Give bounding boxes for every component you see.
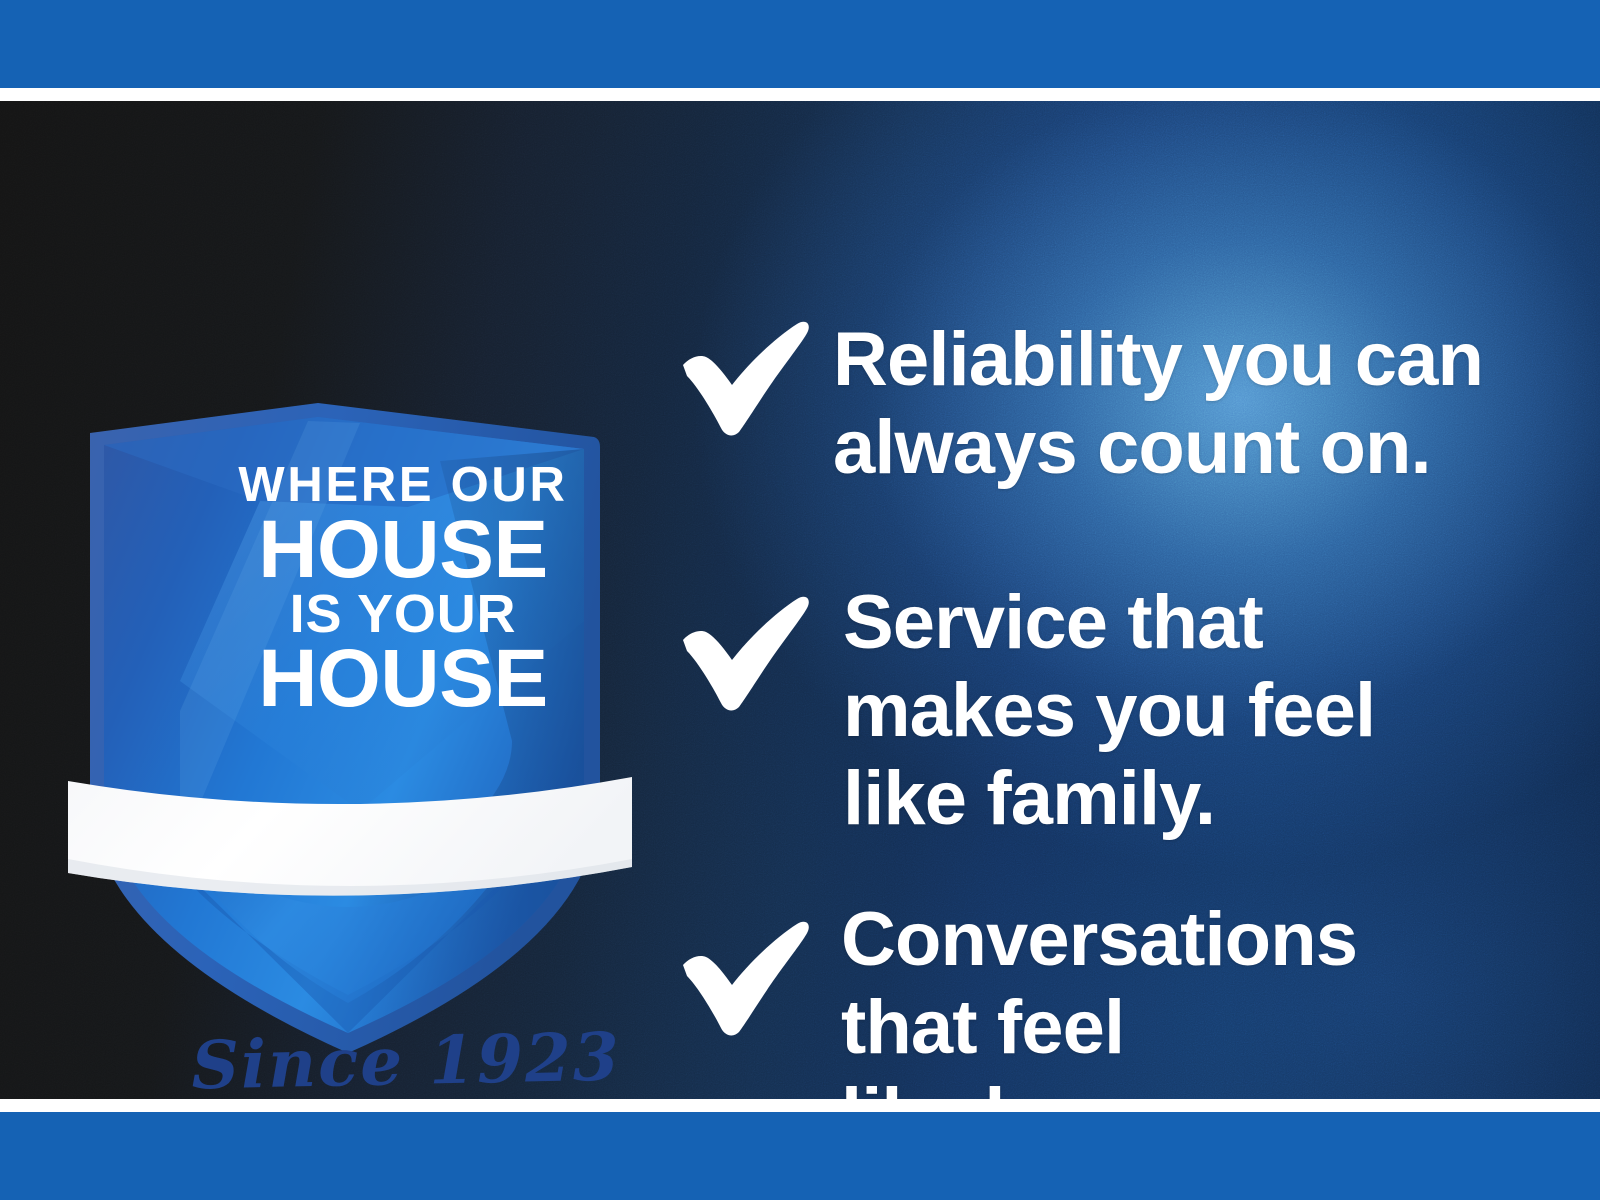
checkmark-icon xyxy=(675,593,813,711)
shield-badge: Where Our House Is Your House Since 1923 xyxy=(60,381,640,1061)
list-item: Service that makes you feel like family. xyxy=(675,579,1375,843)
main-panel: Where Our House Is Your House Since 1923… xyxy=(0,101,1600,1099)
promo-banner: Where Our House Is Your House Since 1923… xyxy=(0,0,1600,1200)
list-item: Reliability you can always count on. xyxy=(675,316,1483,492)
list-item-label: Reliability you can always count on. xyxy=(833,316,1483,492)
brand-bar-top xyxy=(0,0,1600,88)
shield-badge-icon xyxy=(60,381,640,1061)
list-item: Conversations that feel like home. xyxy=(675,896,1357,1099)
list-item-label: Service that makes you feel like family. xyxy=(843,579,1375,843)
list-item-label: Conversations that feel like home. xyxy=(841,896,1357,1099)
checkmark-icon xyxy=(675,918,813,1036)
checkmark-icon xyxy=(675,318,813,436)
benefits-list: Reliability you can always count on. Ser… xyxy=(675,221,1555,1099)
brand-bar-bottom xyxy=(0,1112,1600,1200)
